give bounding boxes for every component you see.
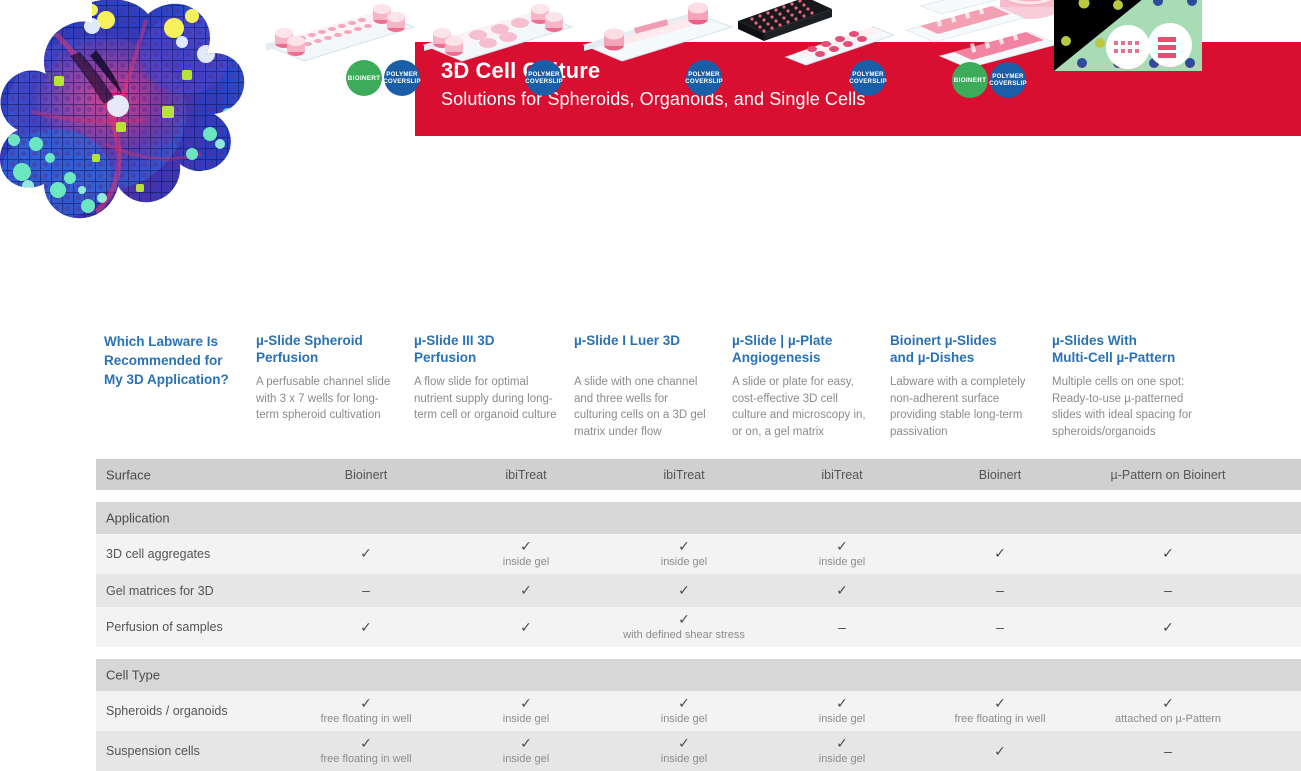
cell-note: attached on µ-Pattern <box>1115 712 1221 726</box>
data-cell: ✓inside gel <box>446 731 606 771</box>
cell-mark: ✓ <box>1162 696 1174 711</box>
badge-polymer-line-2: COVERSLIP <box>685 78 723 86</box>
data-cell: ✓ <box>1078 607 1258 647</box>
cell-mark: ✓ <box>360 736 372 751</box>
table-row-surface: Surface Bioinert ibiTreat ibiTreat ibiTr… <box>96 459 1301 490</box>
table-spacer <box>96 647 1301 659</box>
column-title-line-1: µ-Slide Spheroid <box>256 332 406 349</box>
badge-polymer-line-1: POLYMER <box>992 73 1023 81</box>
question-heading: Which Labware Is Recommended for My 3D A… <box>104 332 274 389</box>
badge-polymer-coverslip: POLYMER COVERSLIP <box>384 60 420 96</box>
badge-bioinert: BIOINERT <box>346 60 382 96</box>
cell-mark: ✓ <box>360 546 372 561</box>
column-title-line-1: µ-Slide I Luer 3D <box>574 332 734 349</box>
column-title-line-1: µ-Slides With <box>1052 332 1232 349</box>
data-cell: ✓ <box>604 574 764 607</box>
cell-mark: ✓ <box>1162 620 1174 635</box>
table-section-header-cell-type: Cell Type <box>96 659 1301 691</box>
data-cell: ✓inside gel <box>604 534 764 574</box>
cell-mark: ✓ <box>678 539 690 554</box>
cell-mark: ✓ <box>678 736 690 751</box>
cell-mark: – <box>996 620 1004 635</box>
surface-cell: ibiTreat <box>604 459 764 490</box>
badge-bioinert: BIOINERT <box>952 62 988 98</box>
section-title: Application <box>106 511 170 526</box>
column-description: Labware with a completely non-adherent s… <box>890 374 1042 440</box>
cell-mark: ✓ <box>520 736 532 751</box>
row-label: Gel matrices for 3D <box>106 584 214 598</box>
data-cell: – <box>1078 574 1258 607</box>
column-description: A slide or plate for easy, cost-effectiv… <box>732 374 872 440</box>
cell-mark: ✓ <box>360 620 372 635</box>
table-spacer <box>96 490 1301 502</box>
column-title: Bioinert µ-Slides and µ-Dishes <box>890 332 1050 366</box>
data-cell: ✓ <box>762 574 922 607</box>
product-columns: Which Labware Is Recommended for My 3D A… <box>96 196 1301 456</box>
surface-cell: Bioinert <box>920 459 1080 490</box>
column-title: µ-Slide | µ-Plate Angiogenesis <box>732 332 892 366</box>
column-title-line-2: Perfusion <box>256 349 406 366</box>
product-image-multi-cell-mu-pattern <box>1054 0 1204 78</box>
cell-mark: ✓ <box>1162 546 1174 561</box>
column-description: A flow slide for optimal nutrient supply… <box>414 374 562 424</box>
cell-mark: ✓ <box>678 696 690 711</box>
question-line-1: Which Labware Is <box>104 332 274 351</box>
column-description: A perfusable channel slide with 3 x 7 we… <box>256 374 396 424</box>
badge-polymer-line-2: COVERSLIP <box>989 80 1027 88</box>
row-label: Spheroids / organoids <box>106 704 228 718</box>
surface-value: ibiTreat <box>663 468 704 482</box>
column-title-line-2: Multi-Cell µ-Pattern <box>1052 349 1232 366</box>
surface-value: µ-Pattern on Bioinert <box>1111 468 1226 482</box>
data-cell: ✓ <box>920 534 1080 574</box>
comparison-table: Surface Bioinert ibiTreat ibiTreat ibiTr… <box>96 459 1301 771</box>
data-cell: ✓attached on µ-Pattern <box>1078 691 1258 731</box>
data-cell: ✓inside gel <box>762 731 922 771</box>
badge-polymer-line-2: COVERSLIP <box>383 78 421 86</box>
cell-note: inside gel <box>661 712 707 726</box>
cell-mark: ✓ <box>836 696 848 711</box>
row-label: Perfusion of samples <box>106 620 223 634</box>
surface-cell: µ-Pattern on Bioinert <box>1078 459 1258 490</box>
surface-value: ibiTreat <box>821 468 862 482</box>
data-cell: ✓ <box>286 534 446 574</box>
data-cell: – <box>762 607 922 647</box>
data-cell: – <box>920 607 1080 647</box>
data-cell: ✓inside gel <box>762 534 922 574</box>
row-label: Suspension cells <box>106 744 200 758</box>
column-title-line-2: and µ-Dishes <box>890 349 1050 366</box>
question-line-3: My 3D Application? <box>104 370 274 389</box>
badge-polymer-line-2: COVERSLIP <box>525 78 563 86</box>
table-row: Suspension cells ✓free floating in well … <box>96 731 1301 771</box>
badge-polymer-coverslip: POLYMER COVERSLIP <box>850 60 886 96</box>
data-cell: ✓inside gel <box>604 731 764 771</box>
table-row: Spheroids / organoids ✓free floating in … <box>96 691 1301 731</box>
table-row: Gel matrices for 3D – ✓ ✓ ✓ – – <box>96 574 1301 607</box>
column-title-line-1: Bioinert µ-Slides <box>890 332 1050 349</box>
row-label: Surface <box>106 467 151 482</box>
data-cell: ✓free floating in well <box>286 691 446 731</box>
cell-mark: ✓ <box>360 696 372 711</box>
cell-mark: ✓ <box>678 612 690 627</box>
cell-note: inside gel <box>661 555 707 569</box>
cell-mark: ✓ <box>836 583 848 598</box>
badge-polymer-line-1: POLYMER <box>688 71 719 79</box>
data-cell: ✓ <box>446 607 606 647</box>
row-label: 3D cell aggregates <box>106 547 210 561</box>
cell-mark: ✓ <box>520 696 532 711</box>
cell-mark: ✓ <box>678 583 690 598</box>
data-cell: ✓inside gel <box>762 691 922 731</box>
badge-polymer-line-1: POLYMER <box>386 71 417 79</box>
column-title: µ-Slide Spheroid Perfusion <box>256 332 406 366</box>
cell-mark: ✓ <box>520 620 532 635</box>
cell-note: inside gel <box>819 555 865 569</box>
column-title-line-1: µ-Slide III 3D <box>414 332 564 349</box>
cell-note: free floating in well <box>320 712 411 726</box>
cell-mark: – <box>1164 583 1172 598</box>
cell-note: inside gel <box>503 712 549 726</box>
column-title-line-2: Angiogenesis <box>732 349 892 366</box>
data-cell: ✓inside gel <box>446 534 606 574</box>
column-title: µ-Slide III 3D Perfusion <box>414 332 564 366</box>
column-title-line-1: µ-Slide | µ-Plate <box>732 332 892 349</box>
column-title: µ-Slides With Multi-Cell µ-Pattern <box>1052 332 1232 366</box>
surface-value: Bioinert <box>345 468 387 482</box>
badge-bioinert-label: BIOINERT <box>954 77 987 84</box>
data-cell: ✓with defined shear stress <box>604 607 764 647</box>
cell-mark: – <box>362 583 370 598</box>
column-title: µ-Slide I Luer 3D <box>574 332 734 349</box>
data-cell: ✓inside gel <box>604 691 764 731</box>
cell-mark: ✓ <box>520 539 532 554</box>
surface-cell: ibiTreat <box>446 459 606 490</box>
section-title: Cell Type <box>106 668 160 683</box>
cell-mark: – <box>996 583 1004 598</box>
table-section-header-application: Application <box>96 502 1301 534</box>
badge-bioinert-label: BIOINERT <box>348 75 381 82</box>
badge-polymer-coverslip: POLYMER COVERSLIP <box>526 60 562 96</box>
data-cell: – <box>920 574 1080 607</box>
cell-mark: – <box>1164 744 1172 759</box>
cell-mark: ✓ <box>836 736 848 751</box>
data-cell: ✓ <box>446 574 606 607</box>
surface-cell: Bioinert <box>286 459 446 490</box>
table-row: Perfusion of samples ✓ ✓ ✓with defined s… <box>96 607 1301 647</box>
cell-note: free floating in well <box>954 712 1045 726</box>
surface-value: Bioinert <box>979 468 1021 482</box>
column-description: Multiple cells on one spot: Ready-to-use… <box>1052 374 1202 440</box>
data-cell: ✓free floating in well <box>920 691 1080 731</box>
question-line-2: Recommended for <box>104 351 274 370</box>
cell-note: with defined shear stress <box>623 628 745 642</box>
cell-note: inside gel <box>819 712 865 726</box>
data-cell: – <box>1078 731 1258 771</box>
cell-mark: ✓ <box>520 583 532 598</box>
data-cell: ✓ <box>920 731 1080 771</box>
cell-mark: ✓ <box>994 546 1006 561</box>
column-title-line-2: Perfusion <box>414 349 564 366</box>
data-cell: ✓ <box>286 607 446 647</box>
data-cell: ✓ <box>1078 534 1258 574</box>
badge-polymer-coverslip: POLYMER COVERSLIP <box>990 62 1026 98</box>
cell-mark: ✓ <box>994 744 1006 759</box>
data-cell: ✓free floating in well <box>286 731 446 771</box>
data-cell: ✓inside gel <box>446 691 606 731</box>
badge-polymer-line-1: POLYMER <box>528 71 559 79</box>
cell-mark: ✓ <box>836 539 848 554</box>
surface-value: ibiTreat <box>505 468 546 482</box>
data-cell: – <box>286 574 446 607</box>
surface-cell: ibiTreat <box>762 459 922 490</box>
cell-mark: ✓ <box>994 696 1006 711</box>
cell-mark: – <box>838 620 846 635</box>
badge-polymer-line-2: COVERSLIP <box>849 78 887 86</box>
cell-note: inside gel <box>503 555 549 569</box>
badge-polymer-coverslip: POLYMER COVERSLIP <box>686 60 722 96</box>
badge-polymer-line-1: POLYMER <box>852 71 883 79</box>
table-row: 3D cell aggregates ✓ ✓inside gel ✓inside… <box>96 534 1301 574</box>
column-description: A slide with one channel and three wells… <box>574 374 714 440</box>
